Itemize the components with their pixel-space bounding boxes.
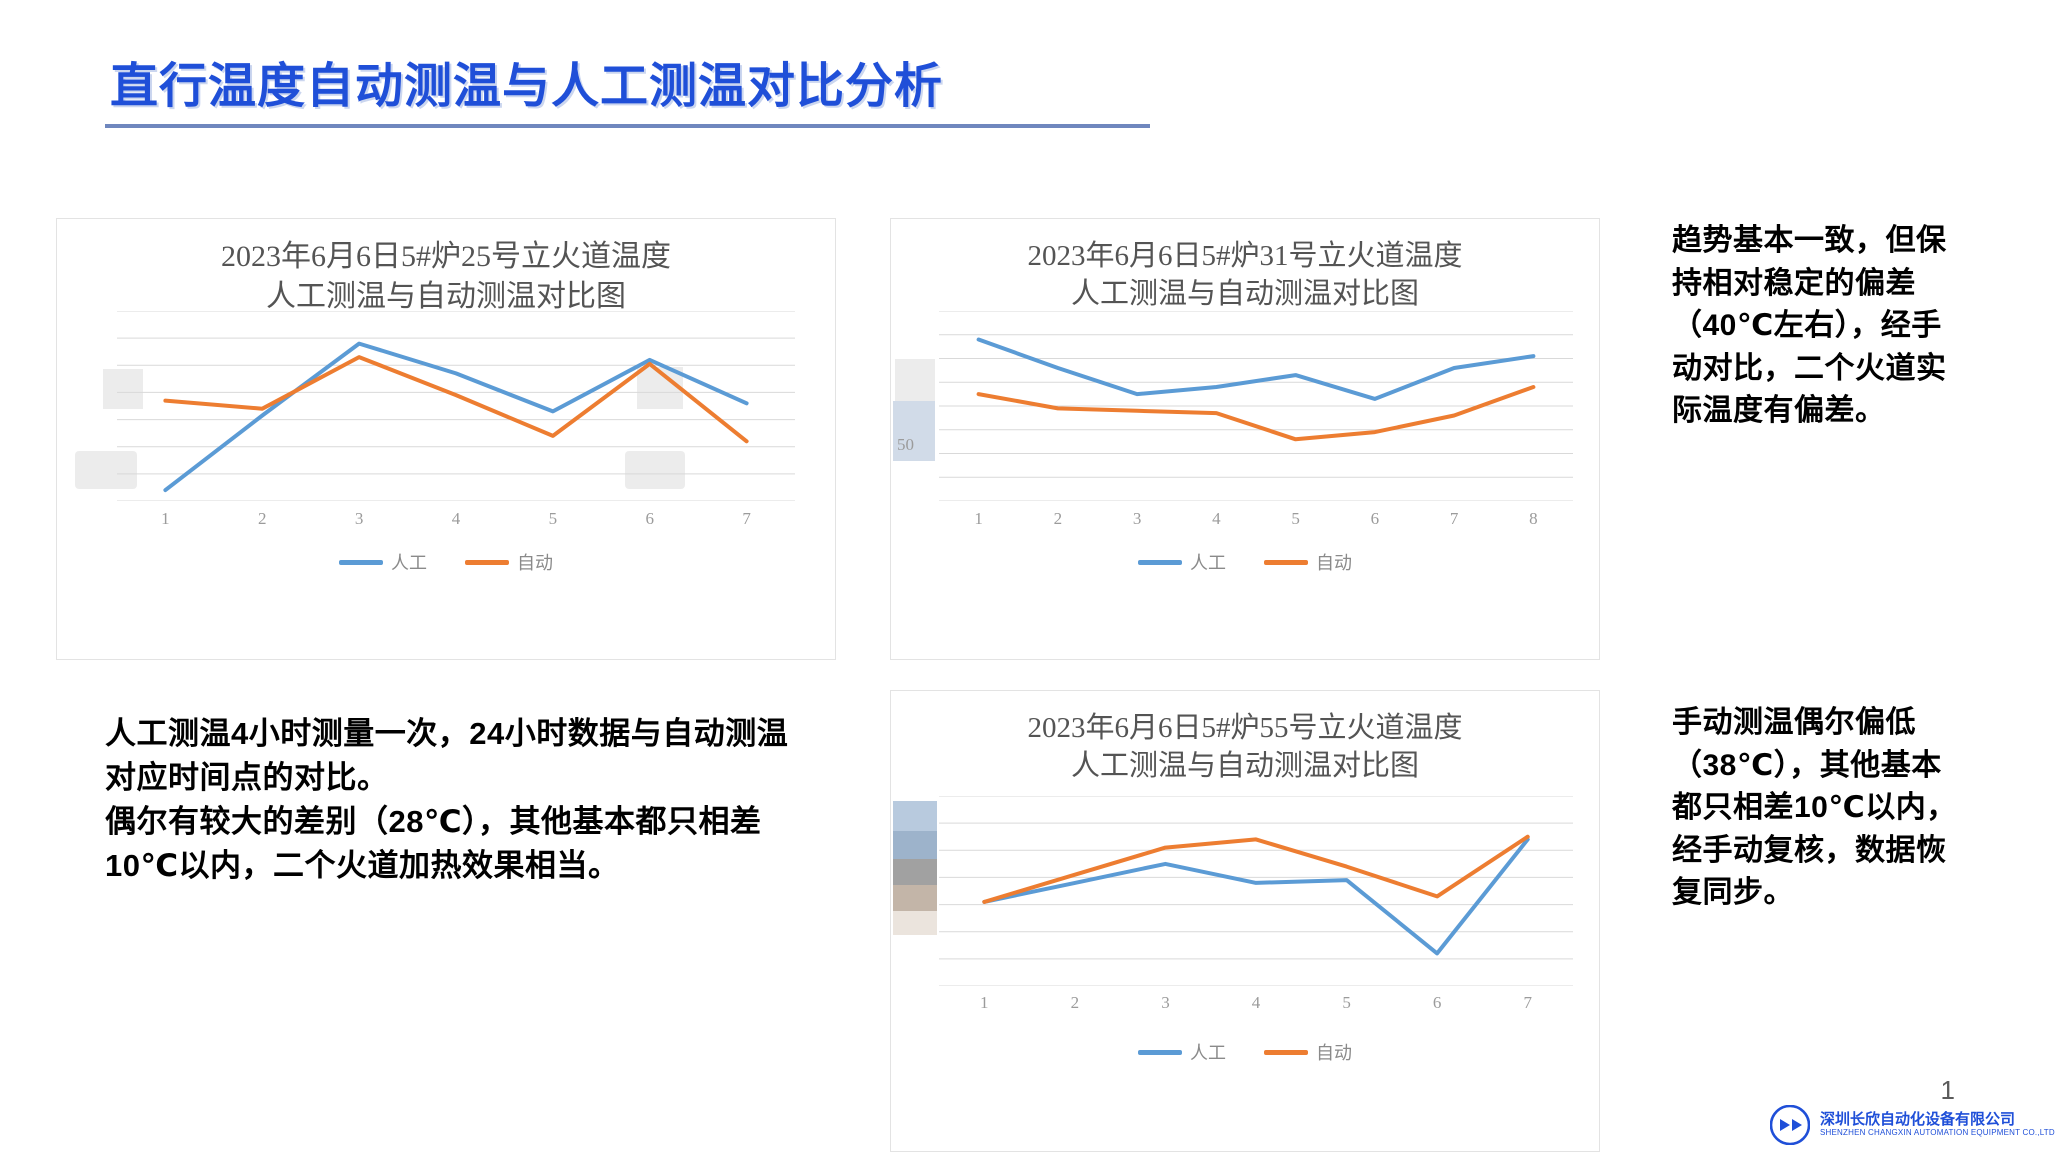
page-number: 1 [1941,1075,1955,1106]
chart-title-line1: 2023年6月6日5#炉25号立火道温度 [57,237,835,277]
chart-legend-25: 人工自动 [57,549,835,575]
chart-legend-55: 人工自动 [891,1039,1599,1065]
x-tick-label: 6 [1392,993,1483,1013]
x-tick-label: 6 [1335,509,1414,529]
chart-xaxis-31: 12345678 [939,509,1573,529]
chart-card-55: 2023年6月6日5#炉55号立火道温度 人工测温与自动测温对比图 123456… [890,690,1600,1152]
x-tick-label: 6 [601,509,698,529]
legend-item-manual[interactable]: 人工 [339,549,427,575]
x-tick-label: 7 [1415,509,1494,529]
x-tick-label: 3 [311,509,408,529]
x-tick-label: 5 [1301,993,1392,1013]
note-left-text: 人工测温4小时测量一次，24小时数据与自动测温对应时间点的对比。 偶尔有较大的差… [105,712,805,888]
legend-swatch-icon [1264,1050,1308,1055]
x-tick-label: 2 [1018,509,1097,529]
title-underline-rule [105,124,1150,128]
slide-title-group: 直行温度自动测温与人工测温对比分析 [110,62,943,112]
chart-card-25: 2023年6月6日5#炉25号立火道温度 人工测温与自动测温对比图 123456… [56,218,836,660]
chart-xaxis-25: 1234567 [117,509,795,529]
chart-legend-31: 人工自动 [891,549,1599,575]
chart-title-line1: 2023年6月6日5#炉31号立火道温度 [891,237,1599,275]
note-top-right-text: 趋势基本一致，但保持相对稳定的偏差（40℃左右），经手动对比，二个火道实际温度有… [1672,220,1972,433]
chart-title-31: 2023年6月6日5#炉31号立火道温度 人工测温与自动测温对比图 [891,219,1599,314]
chart-plot-55 [891,796,1599,986]
x-tick-label: 1 [117,509,214,529]
legend-item-manual[interactable]: 人工 [1138,549,1226,575]
chart-card-31: 2023年6月6日5#炉31号立火道温度 人工测温与自动测温对比图 50 123… [890,218,1600,660]
x-tick-label: 4 [408,509,505,529]
slide-root: 直行温度自动测温与人工测温对比分析 2023年6月6日5#炉25号立火道温度 人… [0,0,2055,1156]
note-bottom-right-text: 手动测温偶尔偏低（38℃），其他基本都只相差10℃以内，经手动复核，数据恢复同步… [1672,702,1972,915]
legend-swatch-icon [1138,1050,1182,1055]
legend-item-auto[interactable]: 自动 [465,549,553,575]
company-logo: 深圳长欣自动化设备有限公司 SHENZHEN CHANGXIN AUTOMATI… [1770,1105,2055,1145]
chart-title-25: 2023年6月6日5#炉25号立火道温度 人工测温与自动测温对比图 [57,219,835,316]
x-tick-label: 2 [1030,993,1121,1013]
chart-plot-25 [57,311,835,501]
legend-label: 人工 [1190,549,1226,575]
x-tick-label: 4 [1177,509,1256,529]
x-tick-label: 7 [1482,993,1573,1013]
legend-label: 自动 [1316,549,1352,575]
legend-item-manual[interactable]: 人工 [1138,1039,1226,1065]
legend-swatch-icon [465,560,509,565]
legend-swatch-icon [1264,560,1308,565]
legend-swatch-icon [1138,560,1182,565]
legend-label: 自动 [1316,1039,1352,1065]
x-tick-label: 1 [939,509,1018,529]
chart-plot-31 [891,311,1599,501]
chart-title-line2: 人工测温与自动测温对比图 [891,747,1599,785]
x-tick-label: 4 [1211,993,1302,1013]
chart-xaxis-55: 1234567 [939,993,1573,1013]
legend-swatch-icon [339,560,383,565]
x-tick-label: 5 [1256,509,1335,529]
company-name-cn: 深圳长欣自动化设备有限公司 [1820,1112,2055,1129]
x-tick-label: 5 [504,509,601,529]
company-name-en: SHENZHEN CHANGXIN AUTOMATION EQUIPMENT C… [1820,1129,2055,1138]
chart-title-line1: 2023年6月6日5#炉55号立火道温度 [891,709,1599,747]
x-tick-label: 3 [1098,509,1177,529]
page-title: 直行温度自动测温与人工测温对比分析 [110,62,943,112]
legend-label: 人工 [391,549,427,575]
company-logo-icon [1770,1105,1810,1145]
legend-item-auto[interactable]: 自动 [1264,549,1352,575]
legend-label: 人工 [1190,1039,1226,1065]
x-tick-label: 2 [214,509,311,529]
legend-item-auto[interactable]: 自动 [1264,1039,1352,1065]
legend-label: 自动 [517,549,553,575]
x-tick-label: 7 [698,509,795,529]
x-tick-label: 3 [1120,993,1211,1013]
x-tick-label: 1 [939,993,1030,1013]
company-logo-text: 深圳长欣自动化设备有限公司 SHENZHEN CHANGXIN AUTOMATI… [1820,1112,2055,1138]
chart-title-55: 2023年6月6日5#炉55号立火道温度 人工测温与自动测温对比图 [891,691,1599,786]
x-tick-label: 8 [1494,509,1573,529]
chart-title-line2: 人工测温与自动测温对比图 [891,275,1599,313]
